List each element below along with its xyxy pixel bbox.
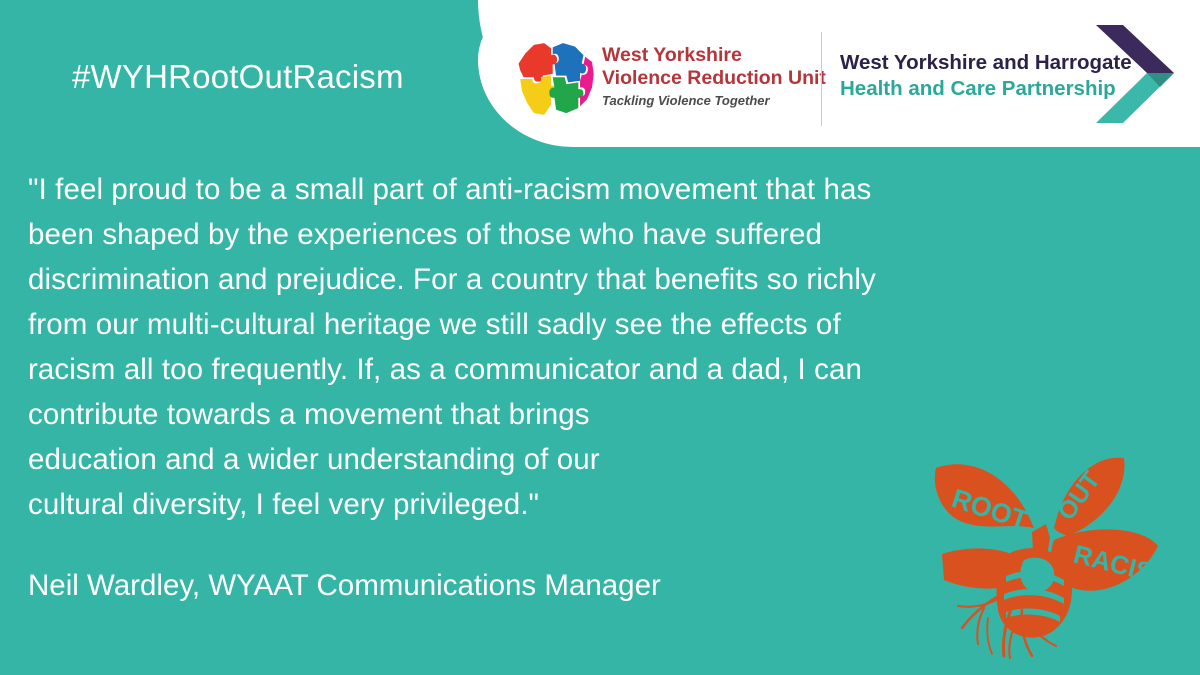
quote-line: discrimination and prejudice. For a coun… (28, 257, 1098, 302)
quote-line: been shaped by the experiences of those … (28, 212, 1098, 257)
quote-line: racism all too frequently. If, as a comm… (28, 347, 1098, 392)
chevron-right-icon (1096, 25, 1174, 123)
quote-line: contribute towards a movement that bring… (28, 392, 1098, 437)
quote-line: "I feel proud to be a small part of anti… (28, 167, 1098, 212)
vru-tagline: Tackling Violence Together (602, 93, 807, 108)
vru-line-1: West Yorkshire (602, 44, 807, 67)
poster-canvas: #WYHRootOutRacism West Yorkshire Violenc… (0, 0, 1200, 675)
partnership-line-2: Health and Care Partnership (840, 76, 1115, 102)
header-vertical-divider (821, 32, 822, 126)
vru-line-2: Violence Reduction Unit (602, 67, 807, 90)
header-logos: West Yorkshire Violence Reduction Unit T… (0, 0, 1200, 147)
vru-wordmark: West Yorkshire Violence Reduction Unit T… (602, 44, 807, 108)
west-yorkshire-puzzle-map-icon (508, 38, 594, 120)
partnership-wordmark: West Yorkshire and Harrogate Health and … (840, 50, 1115, 102)
partnership-line-1: West Yorkshire and Harrogate (840, 50, 1115, 76)
quote-attribution: Neil Wardley, WYAAT Communications Manag… (28, 566, 661, 606)
quote-line: from our multi-cultural heritage we stil… (28, 302, 1098, 347)
fist-holding-plant-icon: ROOT OUT RACISM (928, 442, 1160, 660)
